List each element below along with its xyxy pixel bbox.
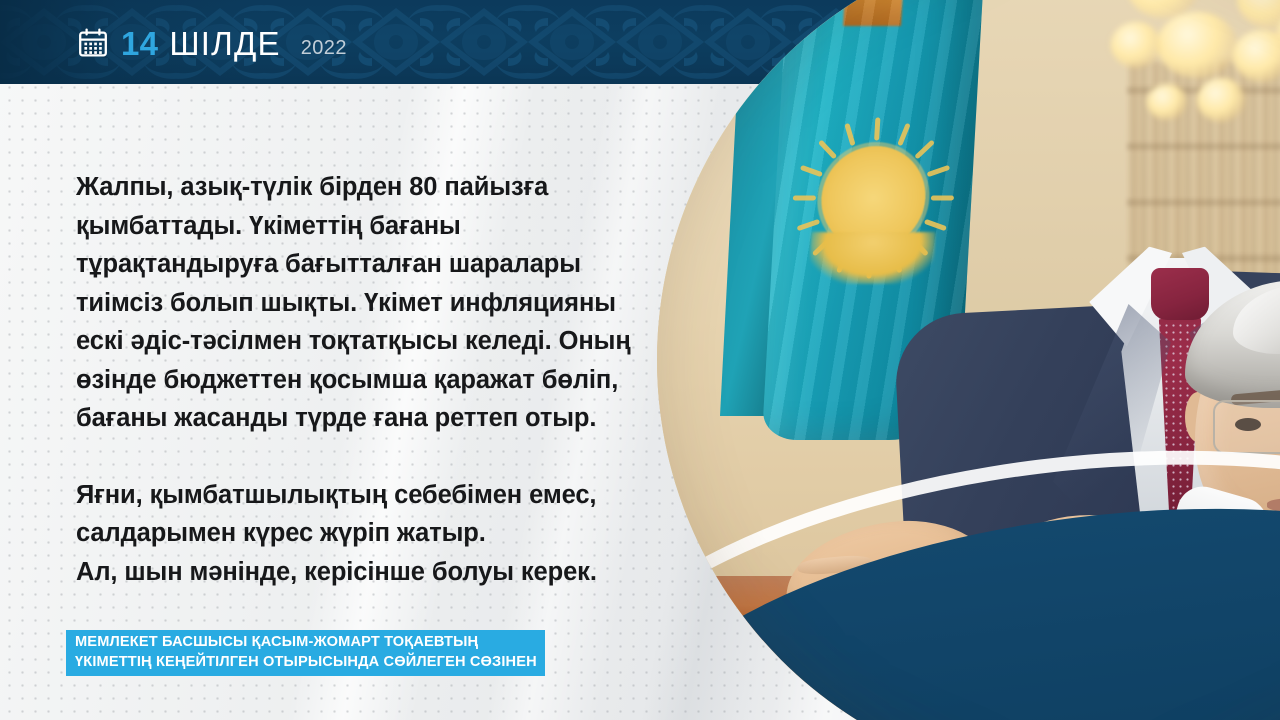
quote-paragraph-2-line-3: Ал, шын мәнінде, керісінше болуы керек. (76, 558, 597, 586)
quote-card: 14 ШІЛДЕ 2022 (0, 0, 1280, 720)
caption-line-1: МЕМЛЕКЕТ БАСШЫСЫ ҚАСЫМ-ЖОМАРТ ТОҚАЕВТЫҢ (75, 633, 537, 653)
quote-block: Жалпы, азық-түлік бірден 80 пайызға қымб… (76, 168, 632, 591)
lens-left (1213, 400, 1280, 454)
necktie-knot (1151, 268, 1209, 320)
source-caption-banner: МЕМЛЕКЕТ БАСШЫСЫ ҚАСЫМ-ЖОМАРТ ТОҚАЕВТЫҢ … (66, 630, 545, 676)
calendar-icon (78, 28, 108, 58)
portrait-circle (657, 0, 1280, 720)
quote-paragraph-2-line-1: Яғни, қымбатшылықтың себебімен емес, (76, 481, 596, 509)
quote-paragraph-1: Жалпы, азық-түлік бірден 80 пайызға қымб… (76, 168, 632, 438)
date-day: 14 (121, 27, 158, 60)
eyeglasses-icon (1213, 400, 1280, 454)
quote-paragraph-2: Яғни, қымбатшылықтың себебімен емес, сал… (76, 476, 632, 592)
date-line: 14 ШІЛДЕ 2022 (78, 20, 347, 66)
date-month: ШІЛДЕ (169, 27, 280, 60)
date-year: 2022 (301, 38, 347, 58)
quote-paragraph-2-line-2: салдарымен күрес жүріп жатыр. (76, 519, 486, 547)
caption-line-2: ҮКІМЕТТІҢ КЕҢЕЙТІЛГЕН ОТЫРЫСЫНДА СӨЙЛЕГЕ… (75, 653, 537, 673)
chandelier-icon (1087, 0, 1280, 196)
